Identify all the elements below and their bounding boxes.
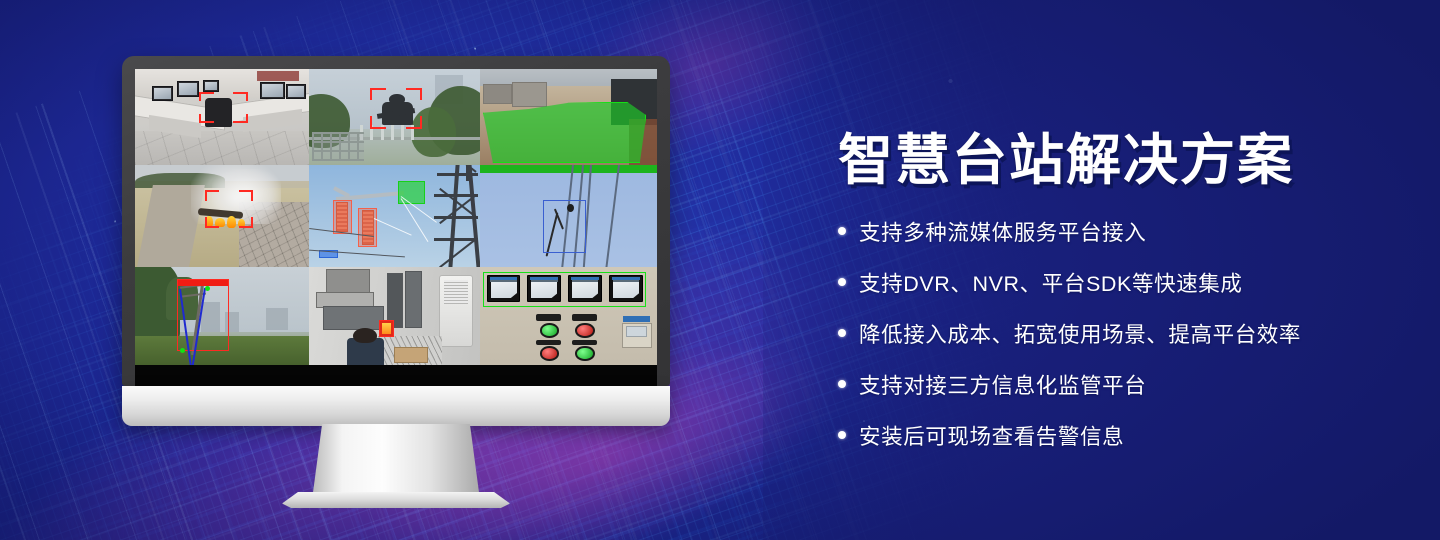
blue-detection-box bbox=[543, 200, 586, 253]
building bbox=[266, 308, 289, 330]
monitor-bezel bbox=[122, 56, 670, 386]
video-cell-control-panel[interactable] bbox=[480, 267, 657, 365]
feature-item-2: 支持DVR、NVR、平台SDK等快速集成 bbox=[838, 267, 1398, 298]
room-monitor-4 bbox=[260, 82, 284, 98]
shed-2 bbox=[483, 84, 511, 103]
feature-label: 安装后可现场查看告警信息 bbox=[859, 420, 1124, 451]
leader-line bbox=[374, 218, 412, 236]
bullet-icon bbox=[838, 431, 846, 439]
solution-banner: 智慧台站解决方案 支持多种流媒体服务平台接入 支持DVR、NVR、平台SDK等快… bbox=[0, 0, 1440, 540]
power-line bbox=[603, 165, 619, 267]
bullet-icon bbox=[838, 278, 846, 286]
feature-item-3: 降低接入成本、拓宽使用场景、提高平台效率 bbox=[838, 318, 1398, 349]
video-cell-fence-intrusion[interactable] bbox=[309, 69, 480, 165]
feature-item-5: 安装后可现场查看告警信息 bbox=[838, 420, 1398, 451]
tower-brace bbox=[434, 216, 478, 219]
insulator-highlight-1 bbox=[333, 200, 352, 235]
indicator-light-green-2[interactable] bbox=[575, 346, 595, 361]
leader-line bbox=[401, 198, 429, 242]
indicator-light-red-1[interactable] bbox=[575, 323, 595, 338]
metal-gate bbox=[312, 132, 363, 161]
cabinet-tall-2 bbox=[405, 271, 422, 328]
page-title: 智慧台站解决方案 bbox=[838, 132, 1398, 190]
video-cell-tower-inspection[interactable] bbox=[309, 165, 480, 267]
screen-letterbox bbox=[135, 365, 657, 386]
tower-brace bbox=[437, 173, 478, 176]
indicator-label-4 bbox=[572, 340, 597, 346]
zone-strip bbox=[480, 165, 657, 173]
monitor-chin bbox=[122, 386, 670, 426]
tower-diagonal bbox=[439, 239, 477, 267]
detection-bracket bbox=[205, 190, 254, 229]
indicator-light-green-1[interactable] bbox=[540, 323, 560, 338]
panel-switch[interactable] bbox=[622, 323, 652, 348]
indicator-label-3 bbox=[536, 340, 561, 346]
room-monitor-1 bbox=[152, 86, 173, 100]
detection-bracket bbox=[199, 92, 248, 123]
shed-1 bbox=[512, 82, 547, 107]
detection-bracket bbox=[370, 88, 421, 128]
video-cell-equipment-room[interactable] bbox=[309, 267, 480, 365]
video-cell-foreign-object[interactable] bbox=[480, 165, 657, 267]
feature-item-1: 支持多种流媒体服务平台接入 bbox=[838, 216, 1398, 247]
feature-label: 支持对接三方信息化监管平台 bbox=[859, 369, 1146, 400]
bullet-icon bbox=[838, 380, 846, 388]
ac-vent bbox=[444, 280, 468, 304]
video-cell-control-room[interactable] bbox=[135, 69, 309, 165]
room-monitor-2 bbox=[177, 81, 200, 96]
room-red-panel bbox=[257, 71, 299, 82]
tower-antenna bbox=[466, 165, 469, 181]
indicator-label-1 bbox=[536, 314, 561, 321]
feature-label: 降低接入成本、拓宽使用场景、提高平台效率 bbox=[859, 318, 1301, 349]
bullet-icon bbox=[838, 329, 846, 337]
video-cell-fire-detection[interactable] bbox=[135, 165, 309, 267]
video-cell-perimeter-zone[interactable] bbox=[480, 69, 657, 165]
monitor-stand-base bbox=[282, 492, 510, 508]
insulator-highlight-2 bbox=[358, 208, 377, 247]
video-wall-grid bbox=[135, 69, 657, 365]
indicator-light-red-2[interactable] bbox=[540, 346, 560, 361]
feature-label: 支持DVR、NVR、平台SDK等快速集成 bbox=[859, 267, 1243, 298]
monitor-stand-neck bbox=[312, 424, 480, 500]
feature-item-4: 支持对接三方信息化监管平台 bbox=[838, 369, 1398, 400]
banner-copy: 智慧台站解决方案 支持多种流媒体服务平台接入 支持DVR、NVR、平台SDK等快… bbox=[838, 132, 1398, 471]
red-alarm-box bbox=[379, 320, 394, 337]
bullet-icon bbox=[838, 227, 846, 235]
video-cell-pole-tilt[interactable] bbox=[135, 267, 309, 365]
cabinet-row bbox=[323, 306, 384, 330]
air-conditioner bbox=[439, 275, 473, 348]
feature-list: 支持多种流媒体服务平台接入 支持DVR、NVR、平台SDK等快速集成 降低接入成… bbox=[838, 216, 1398, 451]
feature-label: 支持多种流媒体服务平台接入 bbox=[859, 216, 1146, 247]
switch-label bbox=[623, 316, 650, 322]
green-zone-polygon bbox=[483, 102, 646, 164]
operator-head bbox=[353, 328, 377, 344]
cardboard-box bbox=[394, 347, 428, 363]
desktop-monitor bbox=[122, 56, 670, 496]
room-floor bbox=[135, 131, 309, 166]
room-monitor-5 bbox=[286, 84, 305, 98]
indicator-label-2 bbox=[572, 314, 597, 321]
tilt-node-top bbox=[205, 286, 210, 291]
green-detection-box bbox=[483, 272, 646, 307]
room-monitor-3 bbox=[203, 80, 219, 92]
monitor-screen bbox=[135, 69, 657, 386]
